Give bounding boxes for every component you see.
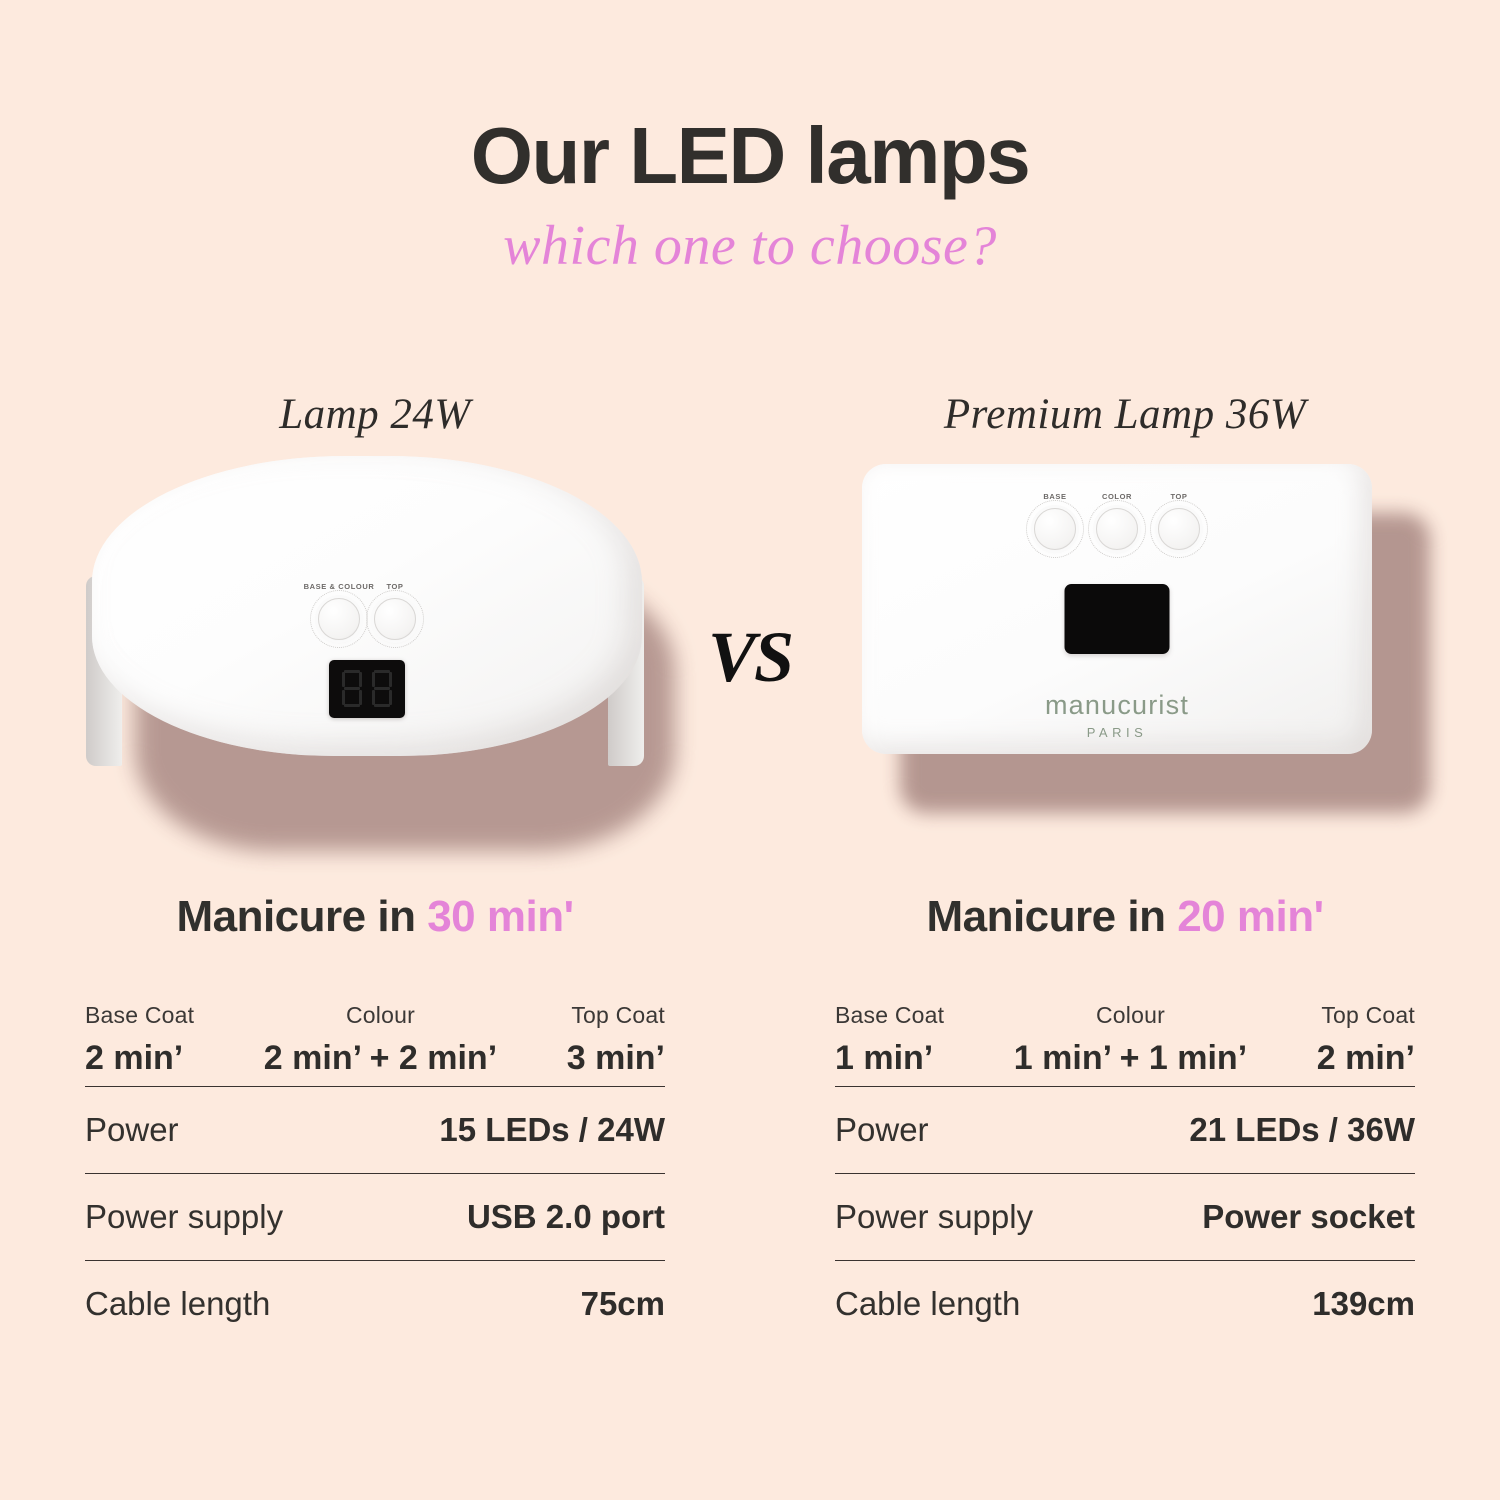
- lamp-seven-segment-display: [329, 660, 405, 718]
- manicure-time-headline-36w: Manicure in 20 min': [750, 892, 1500, 942]
- coat-value-top: 2 min’: [1317, 1029, 1415, 1078]
- lamp-button-label-top: TOP: [386, 582, 403, 591]
- product-image-lamp-36w: BASE COLOR TOP manucurist PARIS: [750, 446, 1500, 846]
- spec-row-power-supply: Power supply Power socket: [835, 1173, 1415, 1260]
- brand-city: PARIS: [1045, 719, 1189, 739]
- spec-label-power-supply: Power supply: [835, 1198, 1033, 1236]
- lamp-button-base-colour[interactable]: BASE & COLOUR: [318, 598, 360, 640]
- lamp-control-panel-24w: BASE & COLOUR TOP: [292, 598, 442, 718]
- coat-cell-base: Base Coat 2 min’: [85, 1002, 194, 1078]
- spec-table-24w: Base Coat 2 min’ Colour 2 min’ + 2 min’ …: [85, 1002, 665, 1347]
- brand-name: manucurist: [1045, 692, 1189, 719]
- manicure-prefix: Manicure in: [176, 892, 415, 941]
- lamp-button-row-24w: BASE & COLOUR TOP: [292, 598, 442, 640]
- coat-label-top: Top Coat: [567, 1002, 665, 1029]
- knob-dotted-ring-icon: [1150, 500, 1208, 558]
- manicure-prefix: Manicure in: [926, 892, 1165, 941]
- spec-value-cable-length: 75cm: [581, 1285, 665, 1323]
- coat-cell-top: Top Coat 3 min’: [567, 1002, 665, 1078]
- coat-durations-row: Base Coat 1 min’ Colour 1 min’ + 1 min’ …: [835, 1002, 1415, 1086]
- coat-cell-colour: Colour 2 min’ + 2 min’: [264, 1002, 497, 1078]
- coat-value-colour: 2 min’ + 2 min’: [264, 1029, 497, 1078]
- spec-label-power: Power: [835, 1111, 929, 1149]
- seven-segment-digit-icon: [370, 669, 394, 709]
- seven-segment-digit-icon: [340, 669, 364, 709]
- lamp-button-top[interactable]: TOP: [374, 598, 416, 640]
- coat-label-colour: Colour: [264, 1002, 497, 1029]
- manicure-duration: 20 min': [1177, 892, 1323, 941]
- lamp-body-36w: BASE COLOR TOP manucurist PARIS: [862, 464, 1372, 754]
- spec-label-cable-length: Cable length: [85, 1285, 270, 1323]
- coat-label-base: Base Coat: [835, 1002, 944, 1029]
- lamp-button-base[interactable]: BASE: [1034, 508, 1076, 550]
- coat-label-top: Top Coat: [1317, 1002, 1415, 1029]
- coat-value-top: 3 min’: [567, 1029, 665, 1078]
- coat-cell-top: Top Coat 2 min’: [1317, 1002, 1415, 1078]
- knob-dotted-ring-icon: [366, 590, 424, 648]
- spec-label-power: Power: [85, 1111, 179, 1149]
- coat-value-base: 1 min’: [835, 1029, 944, 1078]
- product-column-lamp-24w: Lamp 24W BASE & COLOUR TOP: [0, 390, 750, 1347]
- page-subtitle: which one to choose?: [0, 196, 1500, 274]
- coat-cell-base: Base Coat 1 min’: [835, 1002, 944, 1078]
- knob-dotted-ring-icon: [1088, 500, 1146, 558]
- spec-value-power: 15 LEDs / 24W: [439, 1111, 665, 1149]
- spec-row-power-supply: Power supply USB 2.0 port: [85, 1173, 665, 1260]
- manicure-time-headline-24w: Manicure in 30 min': [0, 892, 750, 942]
- product-image-lamp-24w: BASE & COLOUR TOP: [0, 446, 750, 846]
- coat-durations-row: Base Coat 2 min’ Colour 2 min’ + 2 min’ …: [85, 1002, 665, 1086]
- page-title: Our LED lamps: [0, 0, 1500, 196]
- knob-dotted-ring-icon: [310, 590, 368, 648]
- spec-value-cable-length: 139cm: [1312, 1285, 1415, 1323]
- spec-label-cable-length: Cable length: [835, 1285, 1020, 1323]
- spec-row-power: Power 21 LEDs / 36W: [835, 1086, 1415, 1173]
- spec-row-cable-length: Cable length 139cm: [835, 1260, 1415, 1347]
- spec-value-power-supply: USB 2.0 port: [467, 1198, 665, 1236]
- manicure-duration: 30 min': [427, 892, 573, 941]
- coat-value-colour: 1 min’ + 1 min’: [1014, 1029, 1247, 1078]
- lamp-button-label-base-colour: BASE & COLOUR: [304, 582, 375, 591]
- spec-value-power: 21 LEDs / 36W: [1189, 1111, 1415, 1149]
- spec-value-power-supply: Power socket: [1202, 1198, 1415, 1236]
- lamp-button-label-color: COLOR: [1102, 492, 1132, 501]
- page-header: Our LED lamps which one to choose?: [0, 0, 1500, 274]
- lamp-lcd-screen: [1065, 584, 1170, 654]
- product-title-24w: Lamp 24W: [0, 390, 750, 446]
- lamp-body-24w: BASE & COLOUR TOP: [92, 456, 642, 756]
- coat-value-base: 2 min’: [85, 1029, 194, 1078]
- product-column-premium-lamp-36w: Premium Lamp 36W BASE COLOR TOP: [750, 390, 1500, 1347]
- coat-cell-colour: Colour 1 min’ + 1 min’: [1014, 1002, 1247, 1078]
- lamp-button-row-36w: BASE COLOR TOP: [1034, 508, 1200, 550]
- spec-row-power: Power 15 LEDs / 24W: [85, 1086, 665, 1173]
- lamp-button-label-top: TOP: [1170, 492, 1187, 501]
- spec-table-36w: Base Coat 1 min’ Colour 1 min’ + 1 min’ …: [835, 1002, 1415, 1347]
- coat-label-base: Base Coat: [85, 1002, 194, 1029]
- vs-divider-label: VS: [700, 616, 800, 699]
- brand-logo: manucurist PARIS: [1045, 692, 1189, 739]
- lamp-button-top[interactable]: TOP: [1158, 508, 1200, 550]
- comparison-columns: Lamp 24W BASE & COLOUR TOP: [0, 390, 1500, 1347]
- product-title-36w: Premium Lamp 36W: [750, 390, 1500, 446]
- lamp-button-label-base: BASE: [1043, 492, 1066, 501]
- spec-label-power-supply: Power supply: [85, 1198, 283, 1236]
- knob-dotted-ring-icon: [1026, 500, 1084, 558]
- coat-label-colour: Colour: [1014, 1002, 1247, 1029]
- lamp-button-color[interactable]: COLOR: [1096, 508, 1138, 550]
- spec-row-cable-length: Cable length 75cm: [85, 1260, 665, 1347]
